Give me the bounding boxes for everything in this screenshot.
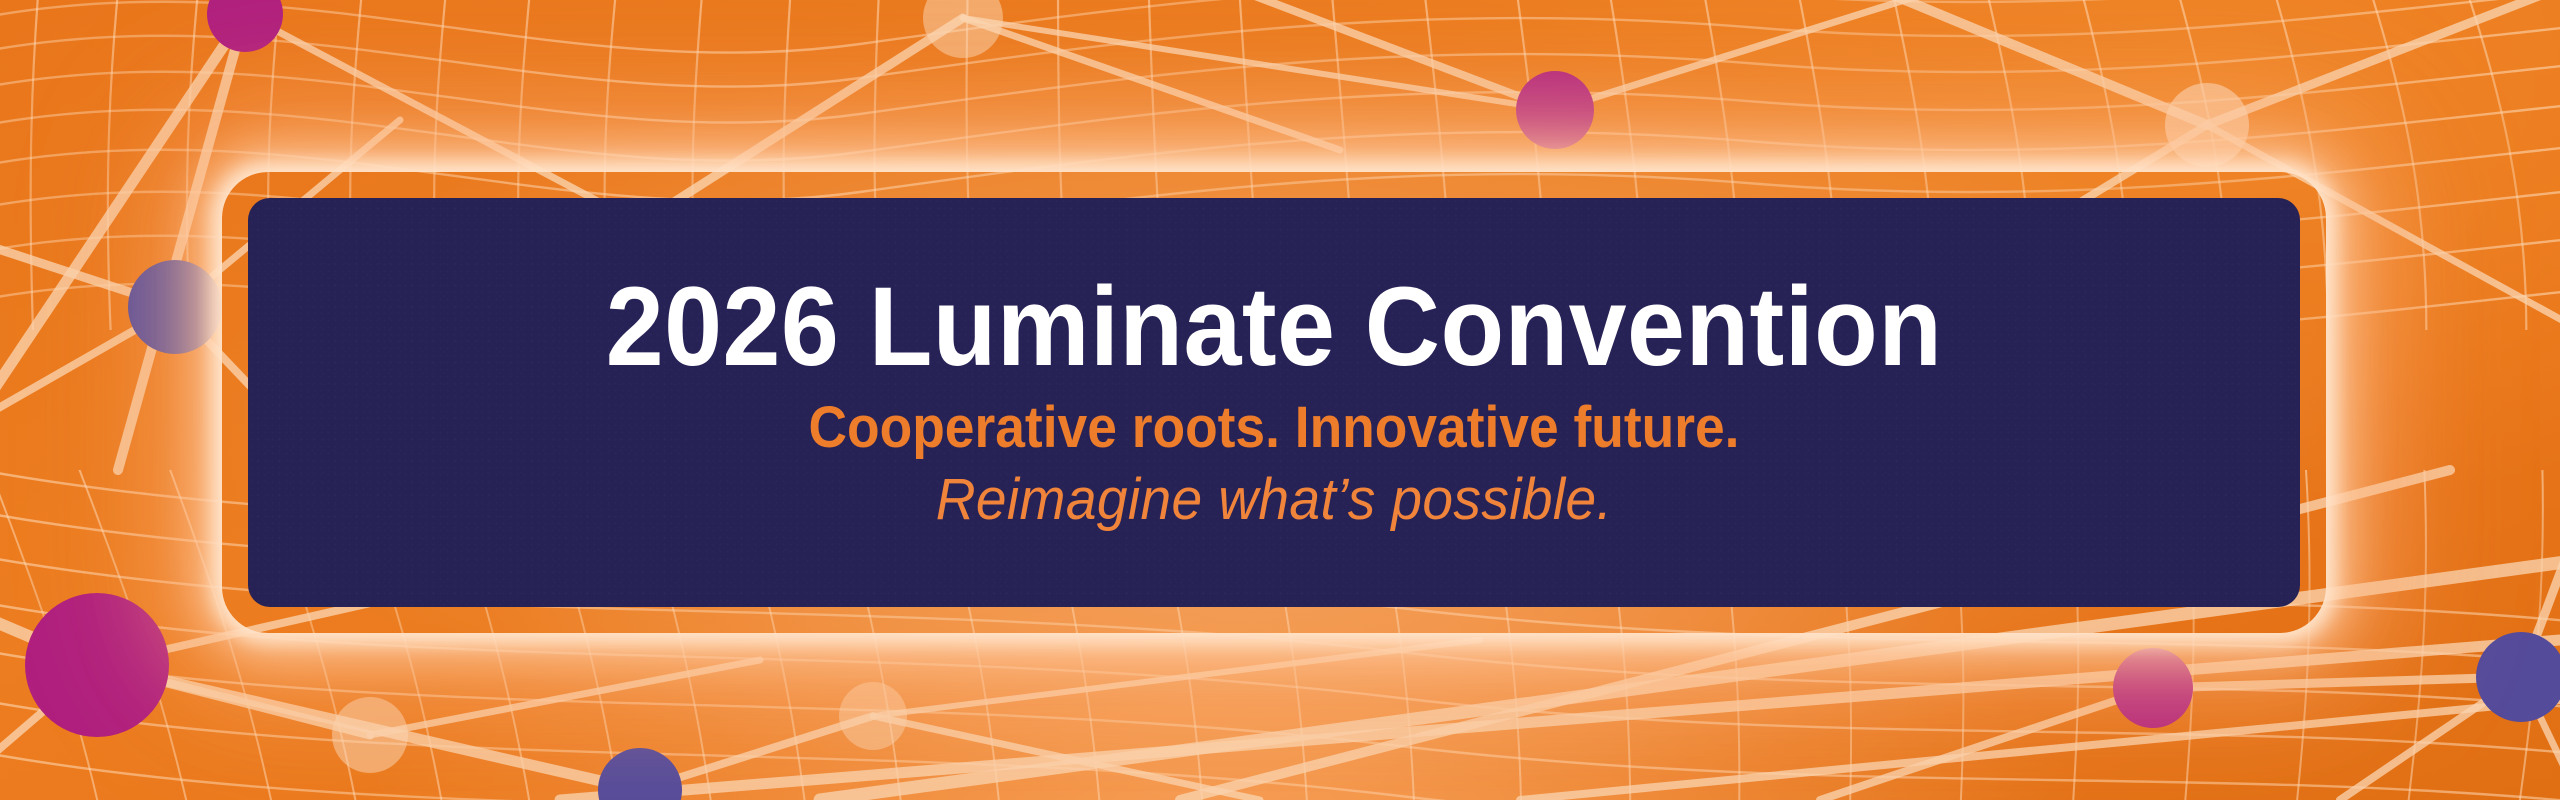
headline-text-group: 2026 Luminate Convention Cooperative roo… <box>248 271 2300 535</box>
headline-panel-container: 2026 Luminate Convention Cooperative roo… <box>248 198 2300 607</box>
page-title: 2026 Luminate Convention <box>320 271 2228 383</box>
headline-panel: 2026 Luminate Convention Cooperative roo… <box>248 198 2300 607</box>
subtagline: Reimagine what’s possible. <box>299 471 2248 529</box>
tagline: Cooperative roots. Innovative future. <box>330 399 2218 457</box>
convention-banner: 2026 Luminate Convention Cooperative roo… <box>0 0 2560 800</box>
